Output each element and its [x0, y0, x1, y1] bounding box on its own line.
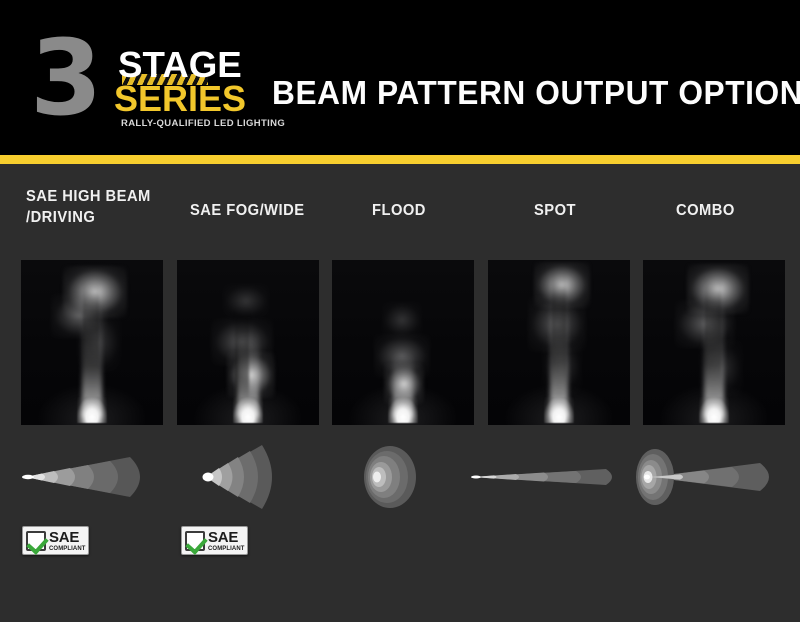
beam-photo-sae-fog-wide: [177, 260, 319, 425]
beam-diagram-svg: [362, 443, 452, 511]
beam-diagram-sae-high-beam-driving: [18, 443, 168, 511]
beam-photo-spot: [488, 260, 630, 425]
photo-light-spray: [382, 302, 422, 338]
beam-diagram-svg: [18, 443, 168, 511]
beam-diagram-svg: [188, 443, 318, 511]
sae-compliant-badge-fog-wide: SAE COMPLIANT: [181, 526, 248, 555]
beam-diagram-svg: [628, 443, 793, 511]
photo-hotspot: [77, 397, 107, 423]
column-label-sae-high-beam-driving: SAE HIGH BEAM /DRIVING: [26, 186, 151, 228]
beam-diagram-combo: [628, 443, 793, 511]
badge-subtitle: COMPLIANT: [208, 546, 245, 552]
photo-hotspot: [544, 397, 574, 423]
logo-word-stage: STAGE: [118, 48, 242, 82]
checkmark-icon: [26, 531, 46, 551]
beam-diagram-spot: [466, 443, 636, 511]
beam-pattern-infographic: 3 STAGE SERIES RALLY-QUALIFIED LED LIGHT…: [0, 0, 800, 622]
header-bar: 3 STAGE SERIES RALLY-QUALIFIED LED LIGHT…: [0, 0, 800, 155]
photo-hotspot: [699, 397, 729, 423]
column-label-spot: SPOT: [534, 200, 576, 221]
beam-diagram-sae-fog-wide: [188, 443, 318, 511]
page-title: BEAM PATTERN OUTPUT OPTIONS: [272, 74, 800, 112]
logo-digit: 3: [30, 28, 98, 128]
stage-series-logo: 3 STAGE SERIES RALLY-QUALIFIED LED LIGHT…: [22, 30, 262, 135]
yellow-divider: [0, 155, 800, 164]
beam-photo-sae-high-beam-driving: [21, 260, 163, 425]
badge-text: SAE COMPLIANT: [208, 530, 245, 552]
badge-title: SAE: [49, 530, 86, 545]
badge-subtitle: COMPLIANT: [49, 546, 86, 552]
sae-compliant-badge-driving: SAE COMPLIANT: [22, 526, 89, 555]
beam-diagram-svg: [466, 443, 636, 511]
badge-title: SAE: [208, 530, 245, 545]
column-label-row: SAE HIGH BEAM /DRIVING SAE FOG/WIDE FLOO…: [0, 186, 800, 248]
column-label-combo: COMBO: [676, 200, 735, 221]
checkmark-icon: [185, 531, 205, 551]
column-label-flood: FLOOD: [372, 200, 426, 221]
beam-photo-combo: [643, 260, 785, 425]
logo-word-series: SERIES: [114, 82, 246, 116]
beam-diagram-flood: [362, 443, 452, 511]
photo-hotspot: [233, 397, 263, 423]
badge-text: SAE COMPLIANT: [49, 530, 86, 552]
column-label-sae-fog-wide: SAE FOG/WIDE: [190, 200, 305, 221]
logo-tagline: RALLY-QUALIFIED LED LIGHTING: [121, 118, 285, 129]
beam-photo-flood: [332, 260, 474, 425]
photo-hotspot: [388, 397, 418, 423]
